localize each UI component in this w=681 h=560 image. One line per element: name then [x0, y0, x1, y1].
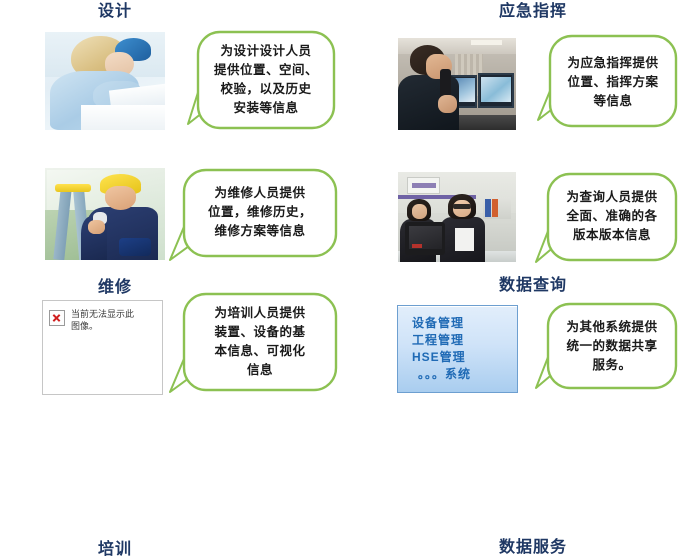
callout-data-service: 为其他系统提供 统一的数据共享 服务。 — [538, 302, 680, 396]
broken-image-message: 当前无法显示此 图像。 — [71, 309, 134, 333]
data-query-office-photo — [398, 172, 516, 262]
panel-heading-emergency: 应急指挥 — [418, 2, 648, 22]
callout-text-training: 为培训人员提供 装置、设备的基 本信息、可视化 信息 — [184, 304, 336, 380]
service-item-others: 。。。系统 — [412, 366, 517, 383]
callout-query: 为查询人员提供 全面、准确的各 版本版本信息 — [538, 172, 680, 268]
callout-training: 为培训人员提供 装置、设备的基 本信息、可视化 信息 — [178, 292, 340, 398]
emergency-command-photo — [398, 38, 516, 130]
broken-image-placeholder: 当前无法显示此 图像。 — [42, 300, 163, 395]
service-item-hse: HSE管理 — [412, 349, 517, 366]
design-engineer-photo — [45, 32, 165, 130]
service-item-equipment: 设备管理 — [412, 315, 517, 332]
callout-text-query: 为查询人员提供 全面、准确的各 版本版本信息 — [548, 188, 676, 245]
callout-design: 为设计设计人员 提供位置、空间、 校验，以及历史 安装等信息 — [170, 28, 340, 138]
callout-text-data-service: 为其他系统提供 统一的数据共享 服务。 — [548, 318, 676, 375]
callout-emergency: 为应急指挥提供 位置、指挥方案 等信息 — [540, 34, 680, 134]
service-item-engineering: 工程管理 — [412, 332, 517, 349]
infographic-canvas: 设计 为设计设计人员 提供位置、空间、 校验，以及历史 安装等信息 应急指挥 — [0, 0, 681, 400]
callout-text-emergency: 为应急指挥提供 位置、指挥方案 等信息 — [550, 54, 676, 111]
panel-heading-data-service: 数据服务 — [418, 538, 648, 558]
callout-maintenance: 为维修人员提供 位置，维修历史， 维修方案等信息 — [178, 168, 340, 264]
maintenance-worker-photo — [45, 168, 165, 260]
broken-image-x-icon — [49, 310, 65, 326]
callout-text-design: 为设计设计人员 提供位置、空间、 校验，以及历史 安装等信息 — [198, 42, 334, 118]
panel-heading-training: 培训 — [0, 540, 230, 560]
data-service-system-box: 设备管理 工程管理 HSE管理 。。。系统 — [397, 305, 518, 393]
callout-text-maintenance: 为维修人员提供 位置，维修历史， 维修方案等信息 — [184, 184, 336, 241]
panel-heading-design: 设计 — [0, 2, 230, 22]
